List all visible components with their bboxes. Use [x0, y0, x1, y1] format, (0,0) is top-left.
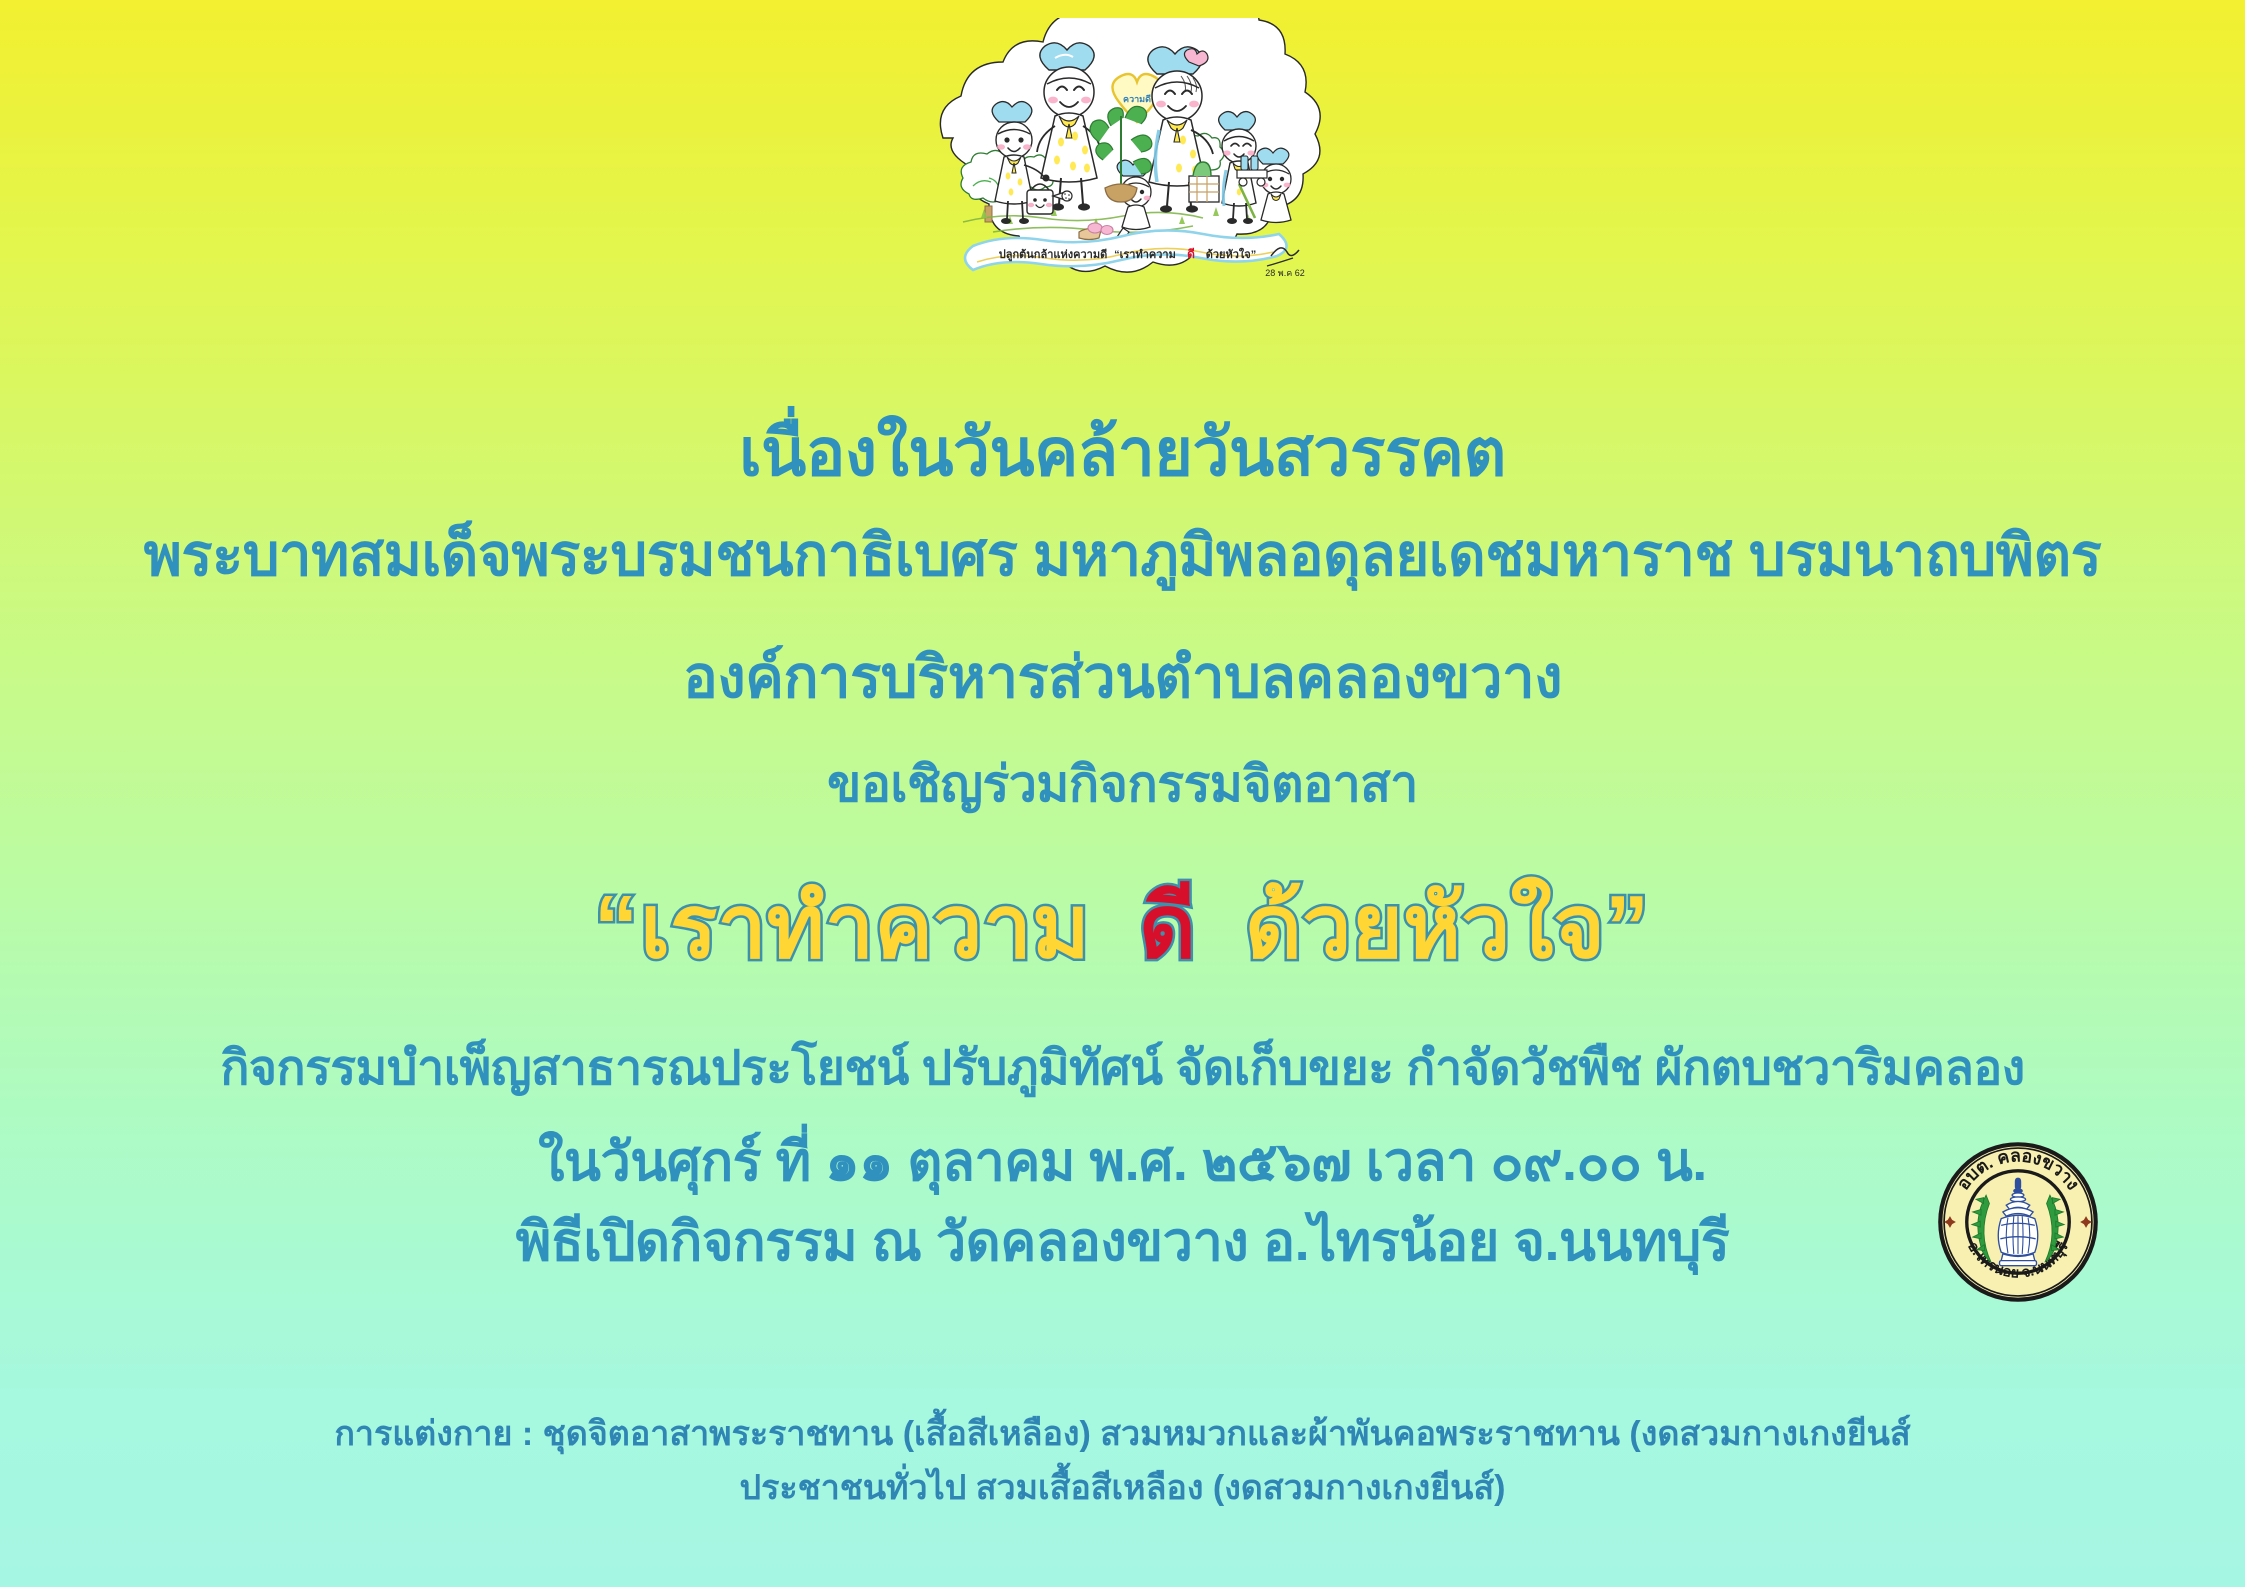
- slogan-open-quote: “: [594, 877, 640, 976]
- caption-quote-1: “เราทำความ: [1114, 248, 1176, 261]
- heart-label: ความดี: [1123, 94, 1151, 104]
- announcement-poster: ความดี: [0, 0, 2245, 1587]
- slogan-highlight-dee: ดี: [1139, 877, 1196, 976]
- page-headline: เนื่องในวันคล้ายวันสวรรคต: [0, 400, 2245, 505]
- dress-code-line-2: ประชาชนทั่วไป สวมเสื้อสีเหลือง (งดสวมกาง…: [0, 1460, 2245, 1514]
- slogan-part-1: เราทำความ: [640, 877, 1090, 976]
- caption-highlight: ดี: [1187, 247, 1195, 261]
- invitation-text: ขอเชิญร่วมกิจกรรมจิตอาสา: [0, 745, 2245, 824]
- event-venue: พิธีเปิดกิจกรรม ณ วัดคลองขวาง อ.ไทรน้อย …: [0, 1198, 2245, 1284]
- slogan-close-quote: ”: [1605, 877, 1651, 976]
- activity-description: กิจกรรมบำเพ็ญสาธารณประโยชน์ ปรับภูมิทัศน…: [0, 1030, 2245, 1106]
- campaign-slogan: “เราทำความ ดี ด้วยหัวใจ”: [0, 856, 2245, 996]
- khlong-khwang-sao-logo: อบต. คลองขวาง อ.ไทรน้อย จ.นนทบุรี: [1934, 1138, 2102, 1306]
- caption-quote-2: ด้วยหัวใจ”: [1205, 247, 1256, 261]
- royal-title: พระบาทสมเด็จพระบรมชนกาธิเบศร มหาภูมิพลอด…: [0, 508, 2245, 601]
- event-datetime: ในวันศุกร์ ที่ ๑๑ ตุลาคม พ.ศ. ๒๕๖๗ เวลา …: [0, 1118, 2245, 1204]
- caption-text: ปลูกต้นกล้าแห่งความดี: [998, 248, 1106, 262]
- volunteer-children-planting-illustration: ความดี: [793, 18, 1453, 280]
- organization-name: องค์การบริหารส่วนตำบลคลองขวาง: [0, 630, 2245, 723]
- dress-code-line-1: การแต่งกาย : ชุดจิตอาสาพระราชทาน (เสื้อส…: [0, 1406, 2245, 1460]
- slogan-part-2: ด้วยหัวใจ: [1245, 877, 1605, 976]
- signature-date: 28 พ.ค 62: [1265, 268, 1304, 278]
